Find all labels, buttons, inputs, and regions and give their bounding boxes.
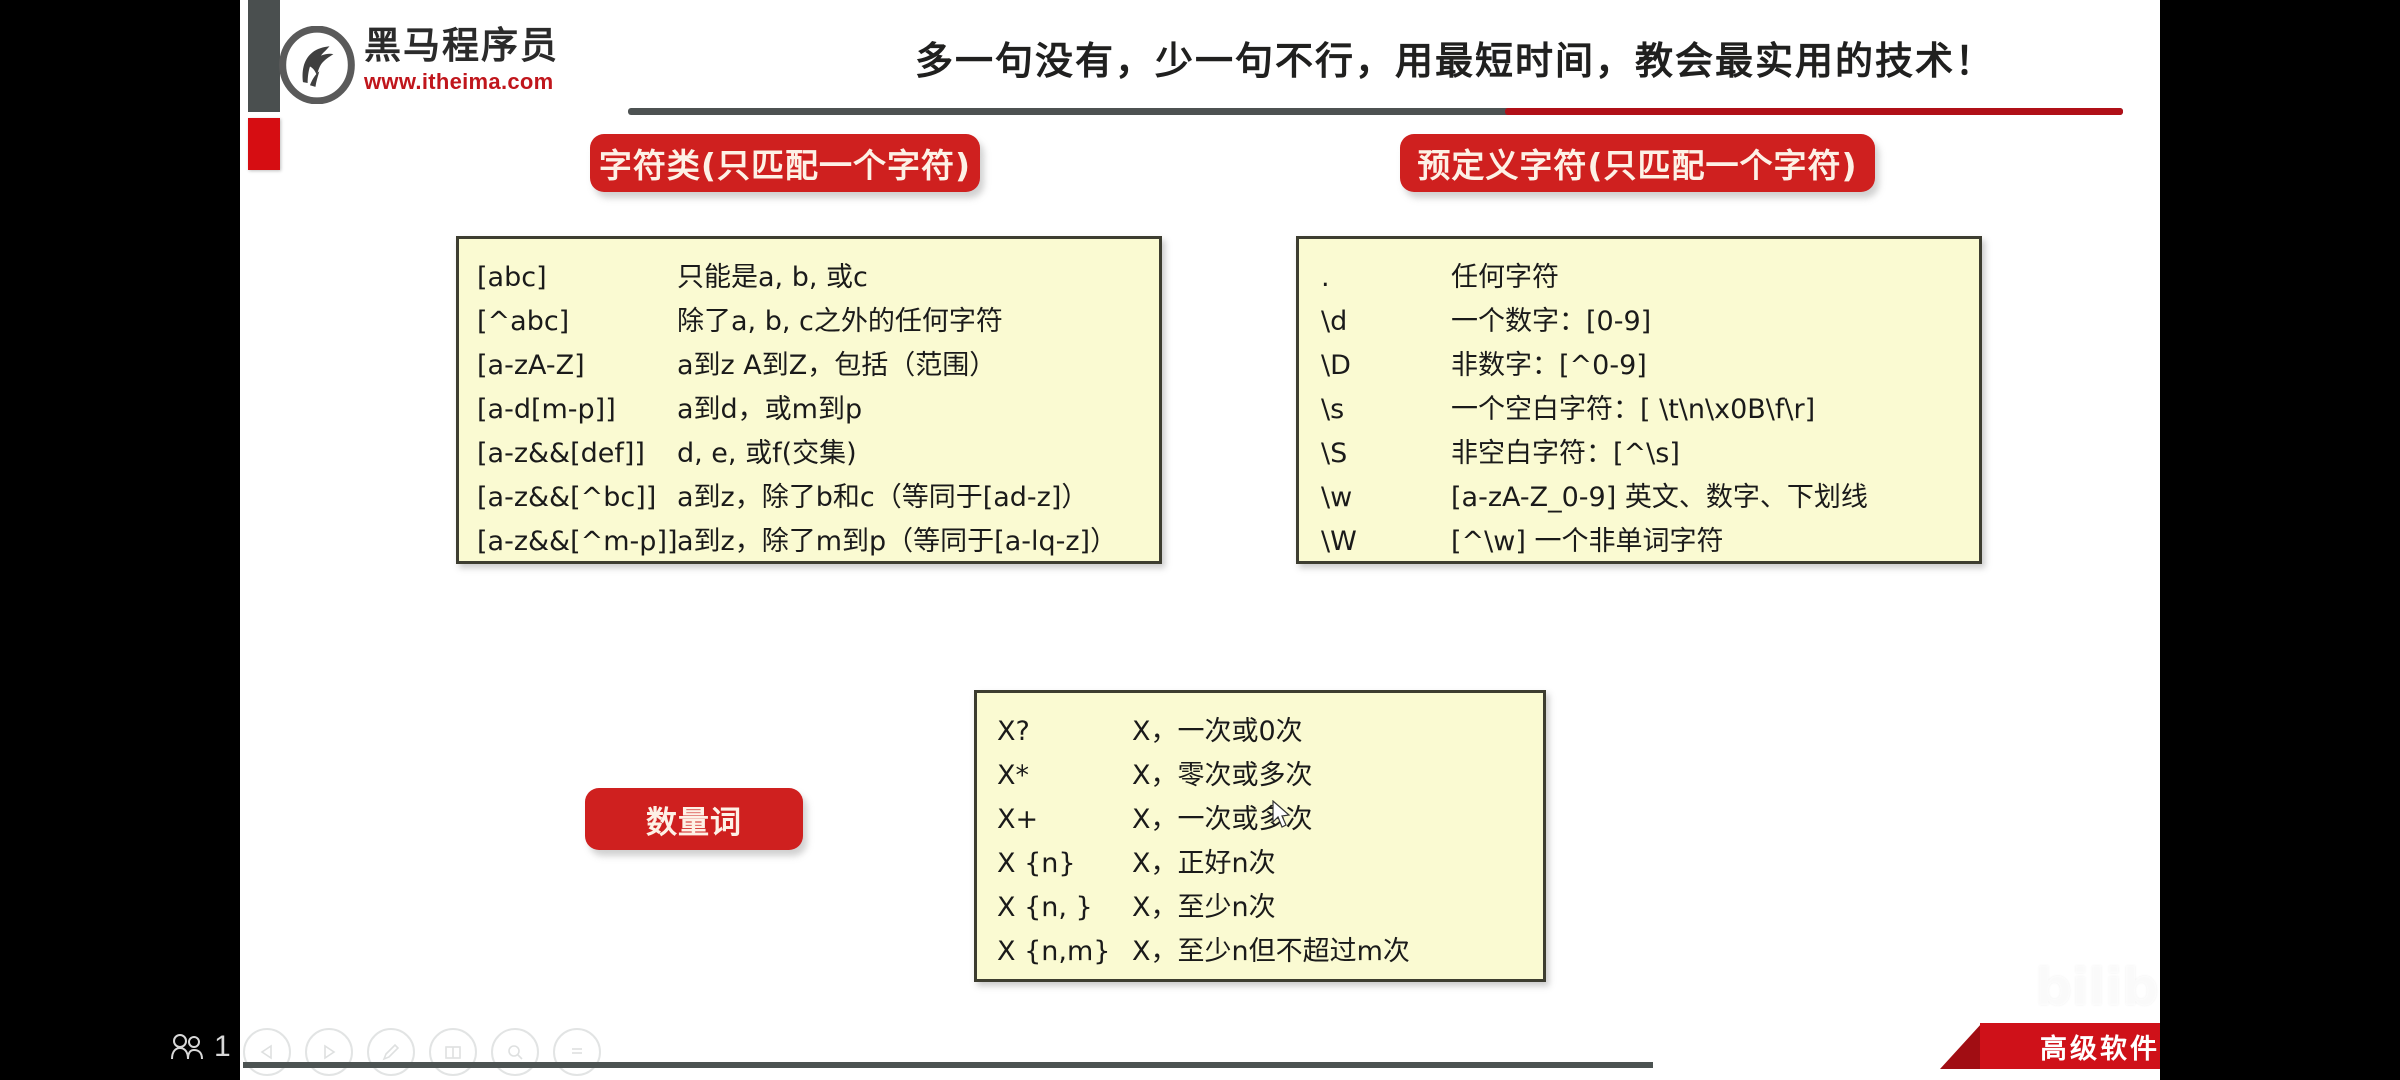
table-row: \s一个空白字符：[ \t\n\x0B\f\r] <box>1299 387 1979 431</box>
quantifier-rows: X?X，一次或0次 X*X，零次或多次 X+X，一次或多次 X {n}X，正好n… <box>977 693 1543 979</box>
description-cell: 除了a, b, c之外的任何字符 <box>677 299 1003 338</box>
progress-track[interactable] <box>243 1062 1653 1068</box>
pattern-cell: [a-z&&[^m-p]] <box>477 526 677 557</box>
description-cell: X，至少n次 <box>1132 885 1276 924</box>
panel-predefined-class: .任何字符 \d一个数字：[0-9] \D非数字：[^0-9] \s一个空白字符… <box>1296 236 1982 564</box>
menu-icon[interactable] <box>553 1028 601 1076</box>
table-row: [abc]只能是a, b, 或c <box>459 255 1159 299</box>
horse-logo-icon <box>278 26 356 104</box>
description-cell: 非空白字符：[^\s] <box>1451 431 1680 470</box>
pattern-cell: [^abc] <box>477 306 677 337</box>
badge-quantifier: 数量词 <box>585 788 803 850</box>
predefined-rows: .任何字符 \d一个数字：[0-9] \D非数字：[^0-9] \s一个空白字符… <box>1299 239 1979 561</box>
footer-ribbon: 高级软件人才培训专家 <box>1980 1023 2160 1069</box>
pattern-cell: [a-zA-Z] <box>477 350 677 381</box>
pen-icon[interactable] <box>367 1028 415 1076</box>
pattern-cell: X {n,m} <box>997 936 1132 967</box>
pattern-cell: X* <box>997 760 1132 791</box>
table-row: \S非空白字符：[^\s] <box>1299 431 1979 475</box>
description-cell: a到z，除了m到p（等同于[a-lq-z]） <box>677 519 1117 558</box>
table-row: X+X，一次或多次 <box>977 797 1543 841</box>
brand-name-cn: 黑马程序员 <box>364 26 559 66</box>
description-cell: [a-zA-Z_0-9] 英文、数字、下划线 <box>1451 475 1868 514</box>
brand-url: www.itheima.com <box>364 69 559 95</box>
badge-character-class: 字符类(只匹配一个字符) <box>590 134 980 192</box>
pattern-cell: \W <box>1321 526 1451 557</box>
letterbox-right <box>2160 0 2400 1080</box>
description-cell: a到d，或m到p <box>677 387 862 426</box>
pattern-cell: X? <box>997 716 1132 747</box>
brand-logo: 黑马程序员 www.itheima.com <box>278 22 658 110</box>
ribbon-notch <box>1940 1023 1982 1069</box>
table-row: \D非数字：[^0-9] <box>1299 343 1979 387</box>
viewer-count: 1 <box>170 1030 231 1064</box>
character-class-rows: [abc]只能是a, b, 或c [^abc]除了a, b, c之外的任何字符 … <box>459 239 1159 561</box>
panel-quantifier: X?X，一次或0次 X*X，零次或多次 X+X，一次或多次 X {n}X，正好n… <box>974 690 1546 982</box>
pattern-cell: X+ <box>997 804 1132 835</box>
mouse-cursor <box>1272 800 1294 830</box>
description-cell: 任何字符 <box>1451 255 1559 294</box>
header-divider-accent <box>1505 108 2123 115</box>
table-row: [a-z&&[^m-p]]a到z，除了m到p（等同于[a-lq-z]） <box>459 519 1159 563</box>
table-row: X {n,m}X，至少n但不超过m次 <box>977 929 1543 973</box>
people-icon <box>170 1033 204 1061</box>
table-row: .任何字符 <box>1299 255 1979 299</box>
pattern-cell: \D <box>1321 350 1451 381</box>
player-toolbar[interactable] <box>243 1028 601 1076</box>
table-row: [a-z&&[def]]d, e, 或f(交集) <box>459 431 1159 475</box>
table-row: X?X，一次或0次 <box>977 709 1543 753</box>
slides-icon[interactable] <box>429 1028 477 1076</box>
pattern-cell: [a-z&&[^bc]] <box>477 482 677 513</box>
description-cell: [^\w] 一个非单词字符 <box>1451 519 1723 558</box>
pattern-cell: [a-d[m-p]] <box>477 394 677 425</box>
description-cell: X，一次或0次 <box>1132 709 1303 748</box>
bilibili-watermark: bilibili <box>2035 958 2160 1028</box>
pattern-cell: \s <box>1321 394 1451 425</box>
description-cell: 一个空白字符：[ \t\n\x0B\f\r] <box>1451 387 1815 426</box>
slide-canvas: 黑马程序员 www.itheima.com 多一句没有，少一句不行，用最短时间，… <box>240 0 2160 1080</box>
table-row: [a-zA-Z]a到z A到Z，包括（范围） <box>459 343 1159 387</box>
footer-ribbon-label: 高级软件人才培训专家 <box>2040 1027 2160 1066</box>
description-cell: 非数字：[^0-9] <box>1451 343 1647 382</box>
description-cell: a到z A到Z，包括（范围） <box>677 343 996 382</box>
pattern-cell: [a-z&&[def]] <box>477 438 677 469</box>
table-row: \d一个数字：[0-9] <box>1299 299 1979 343</box>
pattern-cell: X {n, } <box>997 892 1132 923</box>
pattern-cell: \w <box>1321 482 1451 513</box>
badge-predefined-class: 预定义字符(只匹配一个字符) <box>1400 134 1875 192</box>
previous-icon[interactable] <box>243 1028 291 1076</box>
description-cell: 一个数字：[0-9] <box>1451 299 1651 338</box>
brand-text: 黑马程序员 www.itheima.com <box>364 26 559 95</box>
table-row: X {n, }X，至少n次 <box>977 885 1543 929</box>
viewer-count-value: 1 <box>214 1030 231 1064</box>
decor-gray-bar <box>248 0 280 112</box>
table-row: \W[^\w] 一个非单词字符 <box>1299 519 1979 563</box>
search-icon[interactable] <box>491 1028 539 1076</box>
video-player-stage: 黑马程序员 www.itheima.com 多一句没有，少一句不行，用最短时间，… <box>0 0 2400 1080</box>
description-cell: X，至少n但不超过m次 <box>1132 929 1410 968</box>
pattern-cell: . <box>1321 262 1451 293</box>
decor-red-bar <box>248 118 280 170</box>
header-tagline: 多一句没有，少一句不行，用最短时间，教会最实用的技术！ <box>800 30 2110 85</box>
table-row: X*X，零次或多次 <box>977 753 1543 797</box>
description-cell: 只能是a, b, 或c <box>677 255 868 294</box>
play-icon[interactable] <box>305 1028 353 1076</box>
table-row: [a-z&&[^bc]]a到z，除了b和c（等同于[ad-z]） <box>459 475 1159 519</box>
description-cell: X，零次或多次 <box>1132 753 1313 792</box>
table-row: [a-d[m-p]]a到d，或m到p <box>459 387 1159 431</box>
description-cell: X，正好n次 <box>1132 841 1276 880</box>
description-cell: a到z，除了b和c（等同于[ad-z]） <box>677 475 1088 514</box>
pattern-cell: \d <box>1321 306 1451 337</box>
pattern-cell: X {n} <box>997 848 1132 879</box>
table-row: [^abc]除了a, b, c之外的任何字符 <box>459 299 1159 343</box>
panel-character-class: [abc]只能是a, b, 或c [^abc]除了a, b, c之外的任何字符 … <box>456 236 1162 564</box>
pattern-cell: \S <box>1321 438 1451 469</box>
table-row: \w[a-zA-Z_0-9] 英文、数字、下划线 <box>1299 475 1979 519</box>
letterbox-left <box>0 0 240 1080</box>
table-row: X {n}X，正好n次 <box>977 841 1543 885</box>
pattern-cell: [abc] <box>477 262 677 293</box>
description-cell: d, e, 或f(交集) <box>677 431 857 470</box>
